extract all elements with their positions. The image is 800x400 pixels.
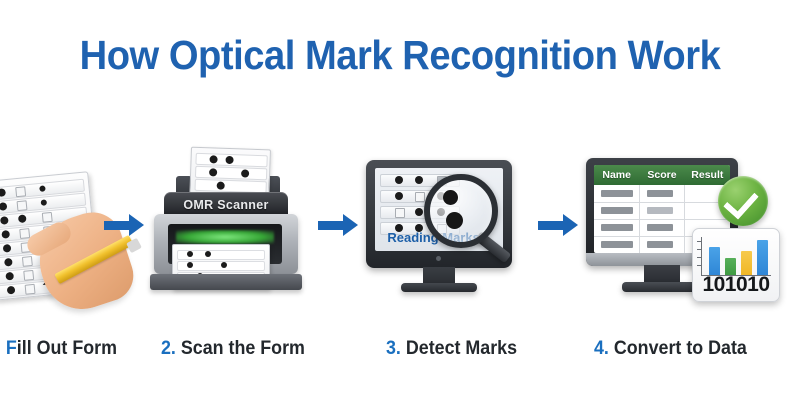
- arrow-step3-to-step4: [538, 214, 578, 236]
- step-number-1: 1. F: [0, 338, 17, 359]
- data-chart-card: 101010: [692, 228, 780, 302]
- step-text-1: ill Out Form: [17, 338, 117, 359]
- magnifier-icon: [424, 174, 498, 248]
- step-label-4: 4. Convert to Data: [594, 338, 747, 360]
- step-3-illustration: Reading Marks...: [366, 160, 512, 300]
- results-monitor-neck: [644, 265, 680, 283]
- infographic-canvas: How Optical Mark Recognition Work: [0, 0, 800, 400]
- results-table-header: Name Score Result: [594, 165, 730, 185]
- success-check-icon: [718, 176, 768, 226]
- page-title: How Optical Mark Recognition Work: [28, 32, 772, 79]
- step-text-3: Detect Marks: [406, 338, 517, 359]
- chart-y-axis: [701, 237, 702, 275]
- step-number-4: 4.: [594, 338, 609, 359]
- chart-bar: [757, 240, 768, 275]
- column-header-score: Score: [639, 165, 684, 185]
- step-text-4: Convert to Data: [614, 338, 747, 359]
- step-number-3: 3.: [386, 338, 401, 359]
- table-row: [594, 202, 730, 220]
- chart-bar: [741, 251, 752, 275]
- column-header-result: Result: [685, 165, 730, 185]
- step-label-1: 1. Fill Out Form: [0, 338, 117, 360]
- results-monitor-base: [622, 282, 702, 292]
- step-text-2: Scan the Form: [181, 338, 305, 359]
- scanner-light-glow: [176, 230, 274, 244]
- step-label-2: 2. Scan the Form: [161, 338, 305, 360]
- chart-bar: [709, 247, 720, 275]
- table-row: [594, 185, 730, 203]
- column-header-name: Name: [594, 165, 639, 185]
- arrow-step1-to-step2: [104, 214, 144, 236]
- monitor-power-led: [436, 256, 441, 261]
- scanner-brand-label: OMR Scanner: [164, 198, 288, 212]
- step-label-3: 3. Detect Marks: [386, 338, 517, 360]
- step-number-2: 2.: [161, 338, 176, 359]
- arrow-step2-to-step3: [318, 214, 358, 236]
- scanner-tray: [150, 274, 302, 290]
- monitor-base: [401, 283, 477, 292]
- binary-data-text: 101010: [693, 273, 779, 297]
- step-2-illustration: OMR Scanner: [146, 148, 306, 304]
